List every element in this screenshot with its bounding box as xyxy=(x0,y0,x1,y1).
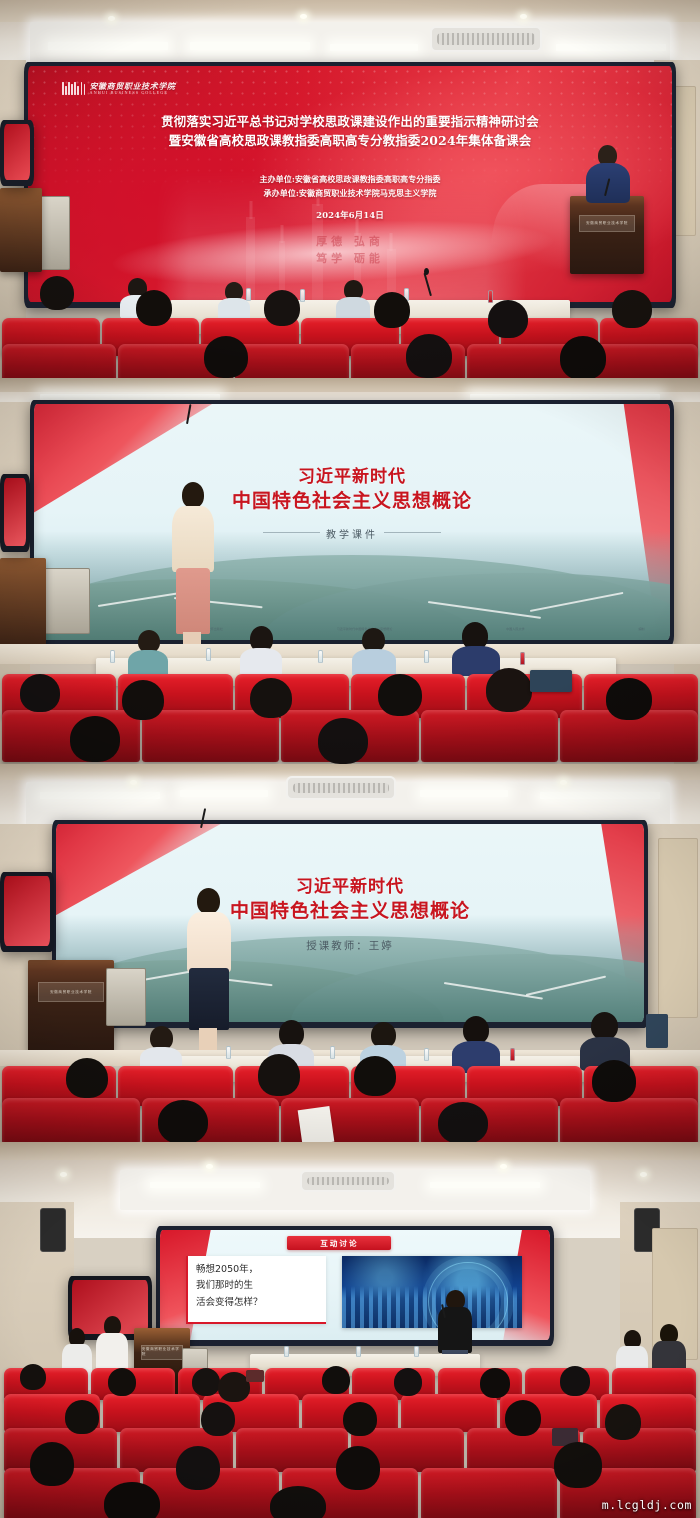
attendee xyxy=(128,630,168,674)
audience-member xyxy=(372,674,430,734)
seat xyxy=(421,1468,557,1518)
conference-title-line2: 暨安徽省高校思政课教指委高职高专分教指委2024年集体备课会 xyxy=(28,131,672,150)
smartphone-screen xyxy=(530,670,572,692)
downlight-icon xyxy=(640,1172,647,1177)
conference-title-line1: 贯彻落实习近平总书记对学校思政课建设作出的重要指示精神研讨会 xyxy=(28,112,672,131)
seat xyxy=(2,344,116,378)
future-city-image xyxy=(342,1256,522,1328)
audience-head xyxy=(20,674,60,712)
photo-collage: 安徽商贸职业技术学院 ANHUI BUSINESS COLLEGE 贯彻落实习近… xyxy=(0,0,700,1518)
audience-member xyxy=(24,1442,82,1494)
presenter xyxy=(170,482,216,662)
attendee-head xyxy=(279,1020,304,1047)
ceiling-led-strip xyxy=(540,792,660,799)
audience-member xyxy=(170,1446,228,1498)
question-line3: 活会变得怎样？ xyxy=(196,1295,318,1311)
audience-head xyxy=(250,678,292,718)
ceiling-soffit xyxy=(0,378,700,392)
attendee xyxy=(352,628,396,674)
side-lectern xyxy=(0,558,46,648)
logo-name-en: ANHUI BUSINESS COLLEGE xyxy=(89,91,175,95)
smartphone-screen xyxy=(246,1370,264,1382)
slide-teacher-name: 授课教师：王婷 xyxy=(56,938,644,953)
led-screen: 习近平新时代 中国特色社会主义思想概论 教学课件 本书编写组 高等教育出版社 习… xyxy=(30,400,674,646)
audience-head xyxy=(108,1368,136,1396)
av-control-rack xyxy=(106,968,146,1026)
monitor-content xyxy=(4,124,30,180)
question-line1: 畅想2050年， xyxy=(196,1262,318,1278)
audience-member xyxy=(600,678,660,740)
logo-name-cn: 安徽商贸职业技术学院 xyxy=(89,82,175,90)
discussion-badge: 互动讨论 xyxy=(287,1236,391,1250)
led-screen: 互动讨论 畅想2050年， 我们那时的生 活会变得怎样？ xyxy=(156,1226,554,1346)
audience-member xyxy=(348,1056,404,1112)
downlight-icon xyxy=(500,1164,507,1169)
podium-nameplate: 安徽商贸职业技术学院 xyxy=(141,1345,184,1360)
ceiling-soffit xyxy=(0,0,700,22)
audience-head xyxy=(560,1366,590,1396)
ac-vent-icon xyxy=(286,776,396,800)
audience-head xyxy=(394,1368,422,1396)
ceiling-led-strip xyxy=(190,42,310,50)
audience-member xyxy=(196,336,256,378)
audience-member xyxy=(430,1102,496,1142)
audience-member xyxy=(390,1368,426,1408)
audience-head xyxy=(66,1058,108,1098)
audience-head xyxy=(612,290,652,328)
panel-opening-ceremony: 安徽商贸职业技术学院 ANHUI BUSINESS COLLEGE 贯彻落实习近… xyxy=(0,0,700,378)
audience-member xyxy=(548,1442,610,1498)
confidence-monitor xyxy=(0,474,30,552)
ceiling-led-strip xyxy=(430,1182,540,1188)
audience-head xyxy=(505,1400,541,1436)
audience-head xyxy=(136,290,172,326)
audience-head xyxy=(122,680,164,720)
slide-title: 习近平新时代 中国特色社会主义思想概论 xyxy=(56,876,644,925)
audience-head xyxy=(201,1402,235,1436)
podium-nameplate: 安徽商贸职业技术学院 xyxy=(579,215,635,232)
audience-head xyxy=(592,1060,636,1102)
downlight-icon xyxy=(206,1164,213,1169)
confidence-monitor xyxy=(0,872,54,952)
audience-member xyxy=(104,1368,140,1408)
audience-member xyxy=(34,276,80,326)
audience-member xyxy=(262,1486,334,1518)
monitor-content xyxy=(4,478,26,546)
audience-head xyxy=(354,1056,396,1096)
audience-member xyxy=(150,1100,216,1142)
question-line2: 我们那时的生 xyxy=(196,1278,318,1294)
audience-head xyxy=(104,1482,160,1518)
attendee-head xyxy=(463,1016,489,1044)
water-bottle xyxy=(318,650,323,663)
audience-head xyxy=(606,678,652,720)
side-door xyxy=(658,838,698,1018)
audience-head xyxy=(438,1102,488,1142)
water-bottle xyxy=(424,1048,429,1061)
audience-head xyxy=(40,276,74,310)
audience-head xyxy=(270,1486,326,1518)
water-bottle xyxy=(330,1046,335,1059)
monitor-banner xyxy=(4,876,50,946)
downlight-icon xyxy=(130,780,137,785)
panel-lecture-teacher: 习近平新时代 中国特色社会主义思想概论 授课教师：王婷 安徽商贸职业技术学院 xyxy=(0,764,700,1142)
audience-head xyxy=(258,1054,300,1096)
panel-interactive-discussion: 互动讨论 畅想2050年， 我们那时的生 活会变得怎样？ xyxy=(0,1142,700,1518)
wall-speaker xyxy=(40,1208,66,1252)
discussion-question: 畅想2050年， 我们那时的生 活会变得怎样？ xyxy=(196,1262,318,1311)
ceiling-led-strip xyxy=(150,1182,260,1188)
monitor-banner xyxy=(4,124,30,180)
water-bottle xyxy=(414,1346,419,1357)
panel-lecture-title: 习近平新时代 中国特色社会主义思想概论 教学课件 本书编写组 高等教育出版社 习… xyxy=(0,378,700,764)
attendee-head xyxy=(591,1012,618,1040)
printed-handout xyxy=(298,1106,335,1142)
attendee xyxy=(240,626,282,674)
slide-title-line1: 习近平新时代 xyxy=(34,466,670,489)
audience-head xyxy=(488,300,528,338)
ceiling-led-strip xyxy=(180,790,268,797)
auditorium-room: 安徽商贸职业技术学院 ANHUI BUSINESS COLLEGE 贯彻落实习近… xyxy=(0,0,700,378)
audience-head xyxy=(318,718,368,764)
conference-title: 贯彻落实习近平总书记对学校思政课建设作出的重要指示精神研讨会 暨安徽省高校思政课… xyxy=(28,112,672,150)
downlight-icon xyxy=(560,780,567,785)
auditorium-room: 互动讨论 畅想2050年， 我们那时的生 活会变得怎样？ xyxy=(0,1142,700,1518)
downlight-icon xyxy=(520,14,527,19)
smartphone-screen xyxy=(646,1014,668,1048)
audience-head xyxy=(605,1404,641,1440)
slide-title: 习近平新时代 中国特色社会主义思想概论 xyxy=(34,466,670,515)
audience-member xyxy=(96,1482,168,1518)
audience-member xyxy=(62,716,128,764)
slide-subtitle: 教学课件 xyxy=(34,526,670,541)
attendee xyxy=(452,1016,500,1072)
attendee xyxy=(218,282,250,316)
audience-member xyxy=(482,300,534,356)
downlight-icon xyxy=(300,14,307,19)
audience-head xyxy=(406,334,452,378)
audience-head xyxy=(158,1100,208,1142)
slide-title-line2: 中国特色社会主义思想概论 xyxy=(34,489,670,515)
presenter-head xyxy=(182,482,204,508)
audience-member xyxy=(258,290,306,342)
audience-member xyxy=(16,1364,50,1402)
presenter-skirt xyxy=(189,968,229,1030)
downlight-icon xyxy=(60,1172,67,1177)
audience-head xyxy=(486,668,532,712)
ac-vent-icon xyxy=(430,26,542,52)
presenter-skirt xyxy=(176,568,210,634)
attendee xyxy=(452,622,500,674)
audience-member xyxy=(244,678,300,736)
side-lectern xyxy=(0,188,42,272)
auditorium-room: 习近平新时代 中国特色社会主义思想概论 授课教师：王婷 安徽商贸职业技术学院 xyxy=(0,764,700,1142)
audience-member xyxy=(552,336,614,378)
audience-member xyxy=(330,1446,388,1498)
ceiling-soffit xyxy=(0,1142,700,1160)
audience-head xyxy=(30,1442,74,1486)
college-logo: 安徽商贸职业技术学院 ANHUI BUSINESS COLLEGE xyxy=(62,82,175,96)
audience-head xyxy=(264,290,300,326)
water-bottle xyxy=(356,1346,361,1357)
audience-member xyxy=(500,1400,548,1450)
monitor-banner xyxy=(4,478,26,546)
attendee-body xyxy=(240,648,282,676)
credit-item: 编制 xyxy=(638,626,644,631)
audience-head xyxy=(374,292,410,328)
audience-head xyxy=(65,1400,99,1434)
presenter-head xyxy=(197,888,220,914)
audience-head xyxy=(20,1364,46,1390)
water-bottle xyxy=(424,650,429,663)
water-bottle xyxy=(226,1046,231,1059)
audience-member xyxy=(318,1366,354,1406)
audience-head xyxy=(322,1366,350,1394)
ceiling-led-strip xyxy=(48,42,168,50)
audience-member xyxy=(60,1400,106,1448)
attendee xyxy=(336,280,370,316)
ceiling-led-strip xyxy=(330,44,418,51)
screen-content: 互动讨论 畅想2050年， 我们那时的生 活会变得怎样？ xyxy=(160,1230,550,1340)
slide-title-line2: 中国特色社会主义思想概论 xyxy=(56,899,644,925)
microphone-head-icon xyxy=(424,268,429,275)
presenter-blouse xyxy=(187,912,231,972)
audience-member xyxy=(196,1402,242,1450)
audience-head xyxy=(480,1368,510,1398)
audience-member xyxy=(398,334,460,378)
podium: 安徽商贸职业技术学院 xyxy=(570,196,644,274)
water-bottle xyxy=(510,1048,515,1061)
ceiling-led-strip xyxy=(420,790,508,797)
ceiling-led-strip xyxy=(556,44,666,51)
site-watermark: m.lcgldj.com xyxy=(602,1498,692,1512)
logo-text: 安徽商贸职业技术学院 ANHUI BUSINESS COLLEGE xyxy=(89,82,175,96)
confidence-monitor xyxy=(0,120,34,186)
host-line: 主办单位:安徽省高校思政课教指委高职高专分指委 xyxy=(28,173,672,187)
monitor-content xyxy=(4,876,50,946)
speaker-at-podium xyxy=(580,145,634,201)
auditorium-room: 习近平新时代 中国特色社会主义思想概论 教学课件 本书编写组 高等教育出版社 习… xyxy=(0,378,700,764)
audience-member xyxy=(14,674,68,730)
podium: 安徽商贸职业技术学院 xyxy=(28,960,114,1052)
audience-member xyxy=(130,290,178,342)
water-bottle xyxy=(520,652,525,665)
logo-mark-icon xyxy=(62,82,85,95)
slide-mountain-photo xyxy=(34,531,670,640)
audience-head xyxy=(554,1442,602,1488)
presenter-blouse xyxy=(172,506,214,572)
audience-head xyxy=(336,1446,380,1490)
audience-member xyxy=(252,1054,308,1112)
water-bottle xyxy=(110,650,115,663)
screen-content: 习近平新时代 中国特色社会主义思想概论 教学课件 本书编写组 高等教育出版社 习… xyxy=(34,404,670,640)
audience-head xyxy=(70,716,120,762)
presenter xyxy=(185,888,233,1064)
slide-title-line1: 习近平新时代 xyxy=(56,876,644,899)
ceiling-led-strip xyxy=(40,792,160,799)
audience-member xyxy=(310,718,376,764)
credit-item: 中国人民大学 xyxy=(506,626,525,631)
audience-head xyxy=(560,336,606,378)
attendee-body xyxy=(218,298,250,320)
audience-member xyxy=(586,1060,644,1118)
audience-head xyxy=(378,674,422,716)
ac-vent-icon xyxy=(300,1170,396,1192)
audience-member xyxy=(60,1058,116,1112)
audience-head xyxy=(204,336,248,378)
audience-head xyxy=(343,1402,377,1436)
downlight-icon xyxy=(108,16,115,21)
audience-member xyxy=(338,1402,384,1450)
audience-head xyxy=(176,1446,220,1490)
podium-nameplate: 安徽商贸职业技术学院 xyxy=(38,982,103,1002)
audience-member xyxy=(556,1366,594,1408)
attendee-body xyxy=(352,649,396,677)
water-bottle xyxy=(284,1346,289,1357)
water-bottle xyxy=(206,648,211,661)
